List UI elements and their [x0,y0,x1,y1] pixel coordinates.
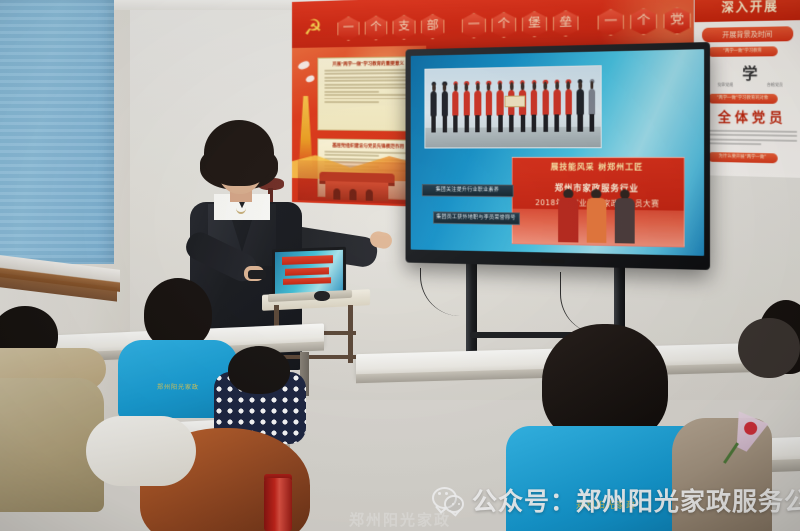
certificate [504,95,525,107]
banner-char: 支 [393,15,416,41]
banner-char: 党 [663,7,691,35]
presentation-remote[interactable] [248,270,266,279]
banner-char: 堡 [522,11,547,38]
photo-scene: ☭ 一 个 支 部 一 个 堡 垒 一 个 党 员 一 面 旗 帜 [0,0,800,531]
banner-char: 个 [630,8,657,36]
tv-bezel: 展技能风采 树郑州工匠 郑州市家政服务行业 2018年度职业技能家政服务员大赛 … [406,42,710,270]
banner-char: 一 [337,16,359,41]
audience-shoulder-right-edge [738,318,800,378]
right-poster-tag-1: "两学一做"学习教育 [708,46,778,57]
tv-brand-logo [541,258,565,263]
window-blind [0,0,114,264]
tv-screen[interactable]: 展技能风采 树郑州工匠 郑州市家政服务行业 2018年度职业技能家政服务员大赛 … [411,49,704,256]
slide-bullet-1: 集团关注提升行业职业素养 [422,184,514,197]
banner-char: 个 [492,12,517,38]
bottom-caption: 郑州阳光家政 [0,509,800,530]
rose-stem [723,442,738,463]
laptop-slide-mirror [275,250,343,294]
audience-head [228,346,290,394]
presentation-tv[interactable]: 展技能风采 树郑州工匠 郑州市家政服务行业 2018年度职业技能家政服务员大赛 … [406,42,710,270]
right-poster-small-right: 合格党员 [719,82,800,88]
computer-mouse[interactable] [314,291,330,301]
right-poster-tag-3: 为什么要开展"两学一做" [708,152,778,163]
presenter-hair [204,120,274,186]
cpc-emblem-icon: ☭ [304,17,330,42]
banner-char: 部 [421,14,445,40]
slide-photo-group [424,66,601,149]
dove-icon [305,75,315,84]
audience-knit-sleeve [86,416,196,486]
banner-characters: 一 个 支 部 一 个 堡 垒 一 个 党 员 一 面 旗 帜 [337,1,742,41]
right-poster-subheading: 开展背景及时间 [702,26,793,42]
banner-char: 一 [462,13,486,39]
right-poster-body-text [704,127,797,149]
slide-photo-award: 展技能风采 树郑州工匠 郑州市家政服务行业 2018年度职业技能家政服务员大赛 [512,157,684,248]
award-banner-line-1: 展技能风采 树郑州工匠 [513,161,683,173]
banner-char: 一 [598,9,624,36]
dove-icon [297,60,310,71]
right-poster-tag-2: "两学一做"学习教育的对象 [708,94,778,104]
banner-char: 垒 [553,10,579,37]
right-poster-big-2: 全体党员 [695,107,800,128]
slide-bullet-2: 集团员工获外地职与李员荣誉称号 [433,211,520,225]
right-poster-heading: 深入开展 [695,0,800,22]
right-poster-big-left: 学 [695,60,800,84]
poster-panel-1-title: 开展"两学一做"学习教育的重要意义 [322,60,414,67]
banner-char: 个 [365,15,388,40]
presenter-necklace [236,202,246,214]
